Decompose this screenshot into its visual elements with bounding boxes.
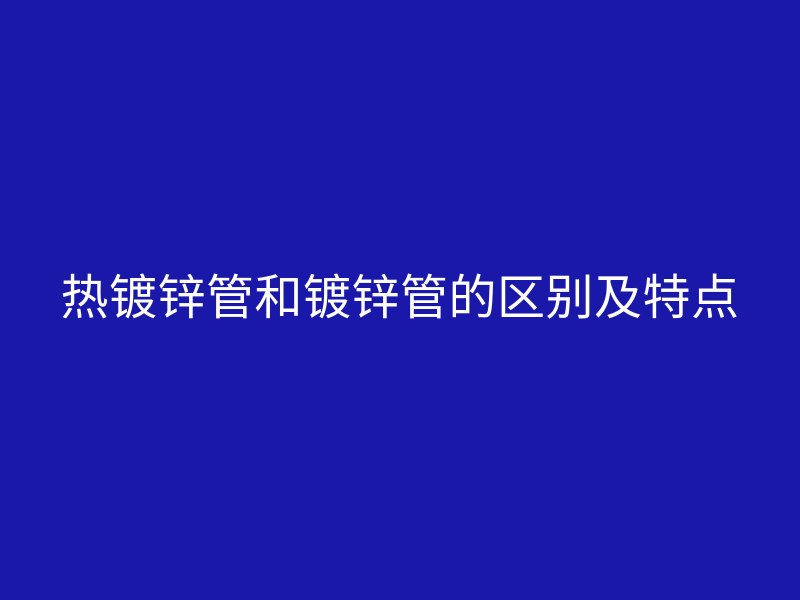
page-title: 热镀锌管和镀锌管的区别及特点 [24, 272, 776, 326]
title-slide: 热镀锌管和镀锌管的区别及特点 [0, 0, 800, 600]
title-block: 热镀锌管和镀锌管的区别及特点 [0, 272, 800, 326]
